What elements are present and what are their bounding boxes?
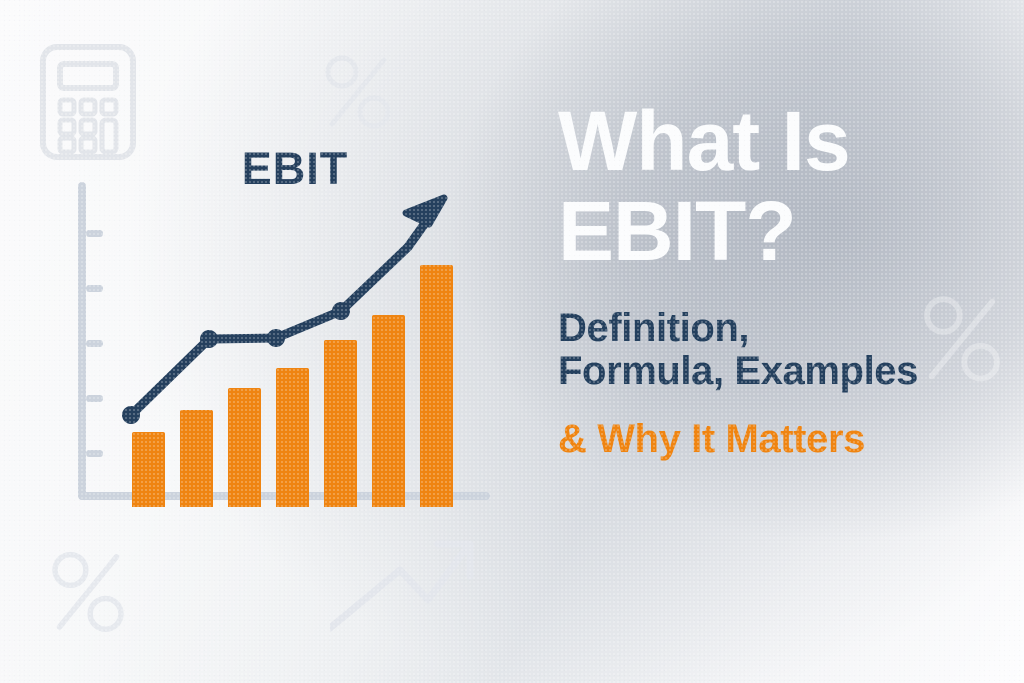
headline-line-2: EBIT? — [558, 194, 1010, 270]
ebit-chart: EBIT — [60, 140, 490, 515]
subheadline-line-1: Definition, — [558, 307, 1010, 350]
percent-icon-bottom-left — [48, 548, 128, 638]
trend-arrow-icon — [330, 528, 480, 638]
trend-point — [332, 302, 350, 320]
subheadline-line-3: & Why It Matters — [558, 418, 1010, 461]
subheadline-line-2: Formula, Examples — [558, 350, 1010, 393]
trend-line — [131, 247, 408, 415]
trend-arrow-head — [406, 198, 444, 224]
trend-line-overlay — [60, 140, 490, 515]
poster-canvas: EBIT What Is EBIT? Definition, Formula, … — [0, 0, 1024, 683]
percent-icon-top — [322, 52, 394, 134]
trend-point — [122, 406, 140, 424]
headline-block: What Is EBIT? Definition, Formula, Examp… — [558, 104, 1010, 461]
headline-line-1: What Is — [558, 104, 1010, 180]
trend-point — [267, 329, 285, 347]
trend-point — [200, 330, 218, 348]
